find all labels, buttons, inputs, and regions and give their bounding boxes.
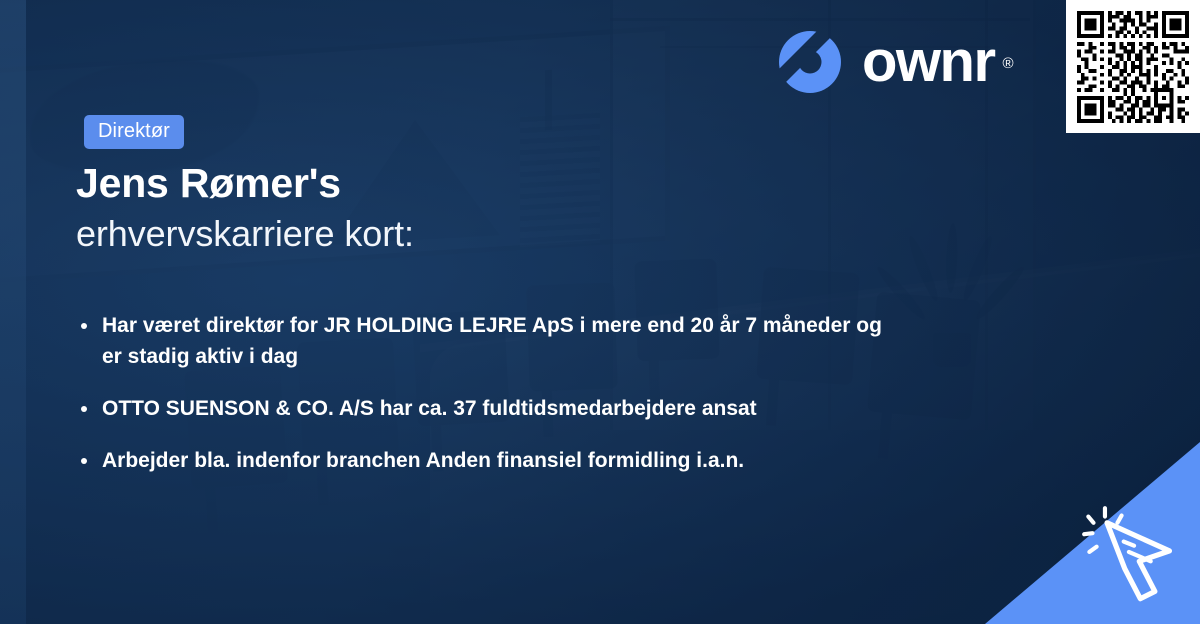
business-card-banner: Direktør Jens Rømer's erhvervskarriere k… xyxy=(0,0,1200,624)
fact-text: Arbejder bla. indenfor branchen Anden fi… xyxy=(102,449,744,472)
qr-code-icon[interactable] xyxy=(1077,11,1189,123)
role-badge: Direktør xyxy=(84,115,184,149)
fact-text: OTTO SUENSON & CO. A/S har ca. 37 fuldti… xyxy=(102,397,757,420)
page-subtitle: erhvervskarriere kort: xyxy=(76,210,414,258)
qr-code-panel[interactable] xyxy=(1066,0,1200,133)
bullet-dot-icon xyxy=(81,406,87,412)
fact-text: Har været direktør for JR HOLDING LEJRE … xyxy=(102,314,882,368)
ownr-logo[interactable]: ownr® xyxy=(778,30,995,94)
list-item: Arbejder bla. indenfor branchen Anden fi… xyxy=(76,445,892,476)
bullet-dot-icon xyxy=(81,458,87,464)
ownr-wordmark-text: ownr xyxy=(862,29,995,94)
ownr-circle-swoosh-icon xyxy=(778,30,842,94)
facts-list: Har været direktør for JR HOLDING LEJRE … xyxy=(76,310,966,497)
page-title: Jens Rømer's xyxy=(76,158,341,208)
ownr-wordmark: ownr® xyxy=(862,33,995,91)
list-item: Har været direktør for JR HOLDING LEJRE … xyxy=(76,310,892,372)
registered-mark: ® xyxy=(1002,35,1013,93)
list-item: OTTO SUENSON & CO. A/S har ca. 37 fuldti… xyxy=(76,393,892,424)
bullet-dot-icon xyxy=(81,323,87,329)
